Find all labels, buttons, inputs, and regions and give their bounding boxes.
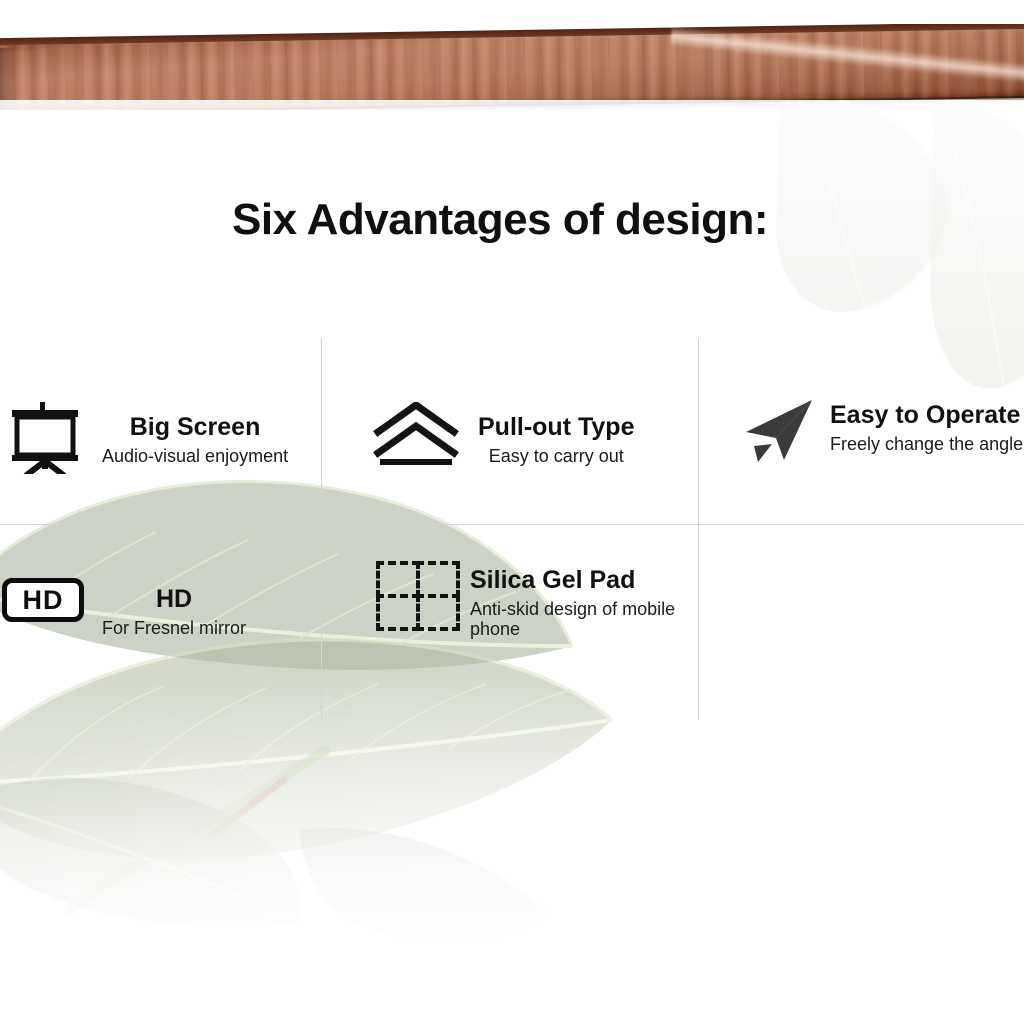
wood-table-surface: [0, 24, 1024, 110]
dashed-grid-cell: [376, 561, 420, 598]
feature-title: Pull-out Type: [478, 414, 634, 442]
dashed-grid-cell: [416, 561, 460, 598]
page-title: Six Advantages of design:: [0, 195, 1000, 245]
feature-title: HD: [156, 586, 192, 614]
product-feature-banner: Six Advantages of design: Big Screen Aud…: [0, 0, 1024, 1024]
hd-badge-icon: HD: [2, 578, 84, 622]
feature-item-silica-gel-pad: Silica Gel Pad Anti-skid design of mobil…: [378, 563, 700, 640]
feature-title: Easy to Operate: [830, 402, 1023, 430]
feature-item-pull-out-type: Pull-out Type Easy to carry out: [372, 402, 634, 468]
hd-badge-label: HD: [2, 578, 84, 622]
feature-subtitle: Easy to carry out: [478, 446, 634, 467]
feature-item-big-screen: Big Screen Audio-visual enjoyment: [8, 402, 288, 474]
leaf-bottom-left: [0, 736, 310, 956]
feature-subtitle: For Fresnel mirror: [102, 618, 246, 639]
dashed-grid-cell: [376, 594, 420, 631]
feature-item-easy-to-operate: Easy to Operate Freely change the angle: [740, 396, 1023, 466]
paper-plane-icon: [740, 396, 818, 466]
projector-screen-icon: [8, 402, 82, 474]
feature-subtitle: Anti-skid design of mobile phone: [470, 599, 700, 640]
dashed-grid-icon: [378, 563, 458, 629]
leaf-bottom-center: [300, 820, 560, 970]
double-chevron-up-icon: [372, 402, 460, 468]
feature-title: Silica Gel Pad: [470, 567, 700, 595]
feature-item-hd: HD HD For Fresnel mirror: [2, 578, 246, 638]
dashed-grid-shape: [378, 563, 458, 629]
feature-subtitle: Audio-visual enjoyment: [102, 446, 288, 467]
feature-subtitle: Freely change the angle: [830, 434, 1023, 455]
feature-grid: Big Screen Audio-visual enjoyment Pull-o…: [0, 338, 1024, 720]
dashed-grid-cell: [416, 594, 460, 631]
feature-title: Big Screen: [130, 414, 261, 442]
